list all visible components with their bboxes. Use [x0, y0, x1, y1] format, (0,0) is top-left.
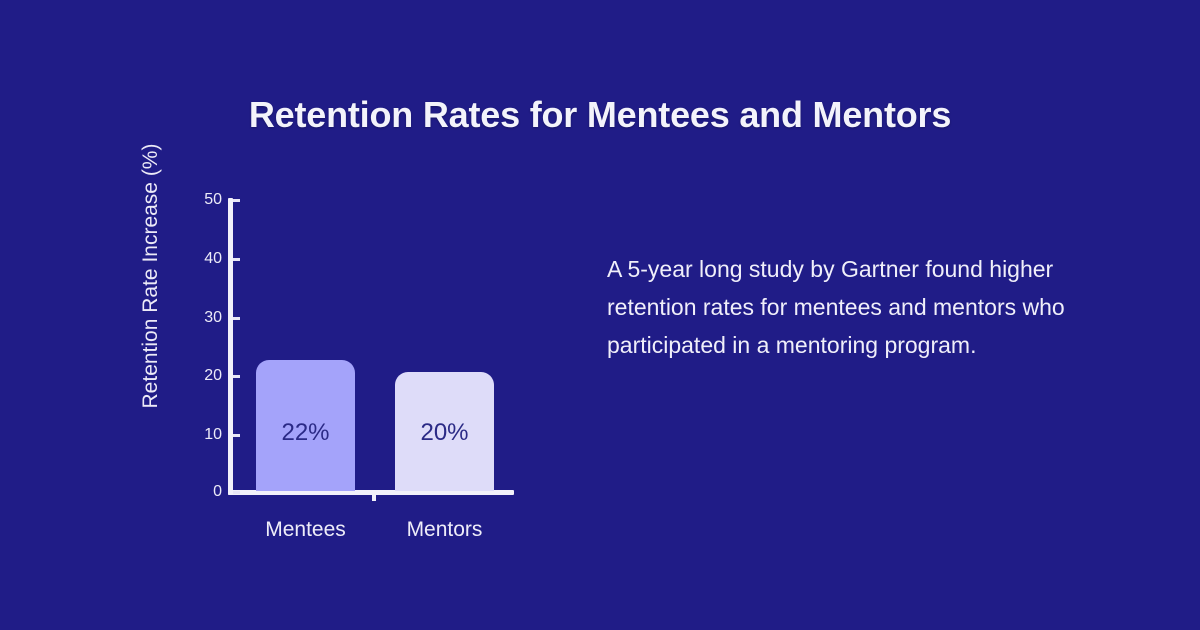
y-tick-label-20: 20 [178, 368, 222, 384]
y-axis-line [228, 198, 233, 495]
y-tick-mark-20 [233, 375, 240, 378]
y-tick-label-0: 0 [178, 484, 222, 500]
bar-value-mentors: 20% [395, 421, 494, 445]
bar-mentors[interactable]: 20% [395, 372, 494, 491]
bar-mentees[interactable]: 22% [256, 360, 355, 491]
y-tick-label-30: 30 [178, 310, 222, 326]
y-tick-mark-30 [233, 317, 240, 320]
infographic-canvas: Retention Rates for Mentees and Mentors … [0, 0, 1200, 630]
bar-value-mentees: 22% [256, 421, 355, 445]
y-axis-title: Retention Rate Increase (%) [139, 116, 163, 436]
y-tick-mark-10 [233, 434, 240, 437]
y-tick-label-10: 10 [178, 427, 222, 443]
bar-chart: Retention Rate Increase (%) 50 40 30 20 … [0, 0, 600, 630]
y-tick-mark-40 [233, 258, 240, 261]
y-tick-mark-0 [233, 491, 240, 494]
y-tick-mark-50 [233, 199, 240, 202]
caption-text: A 5-year long study by Gartner found hig… [607, 250, 1107, 364]
x-tick-label-mentees: Mentees [256, 519, 355, 540]
y-tick-label-40: 40 [178, 251, 222, 267]
y-tick-label-50: 50 [178, 192, 222, 208]
x-tick-label-mentors: Mentors [395, 519, 494, 540]
x-axis-center-tick [372, 495, 376, 501]
